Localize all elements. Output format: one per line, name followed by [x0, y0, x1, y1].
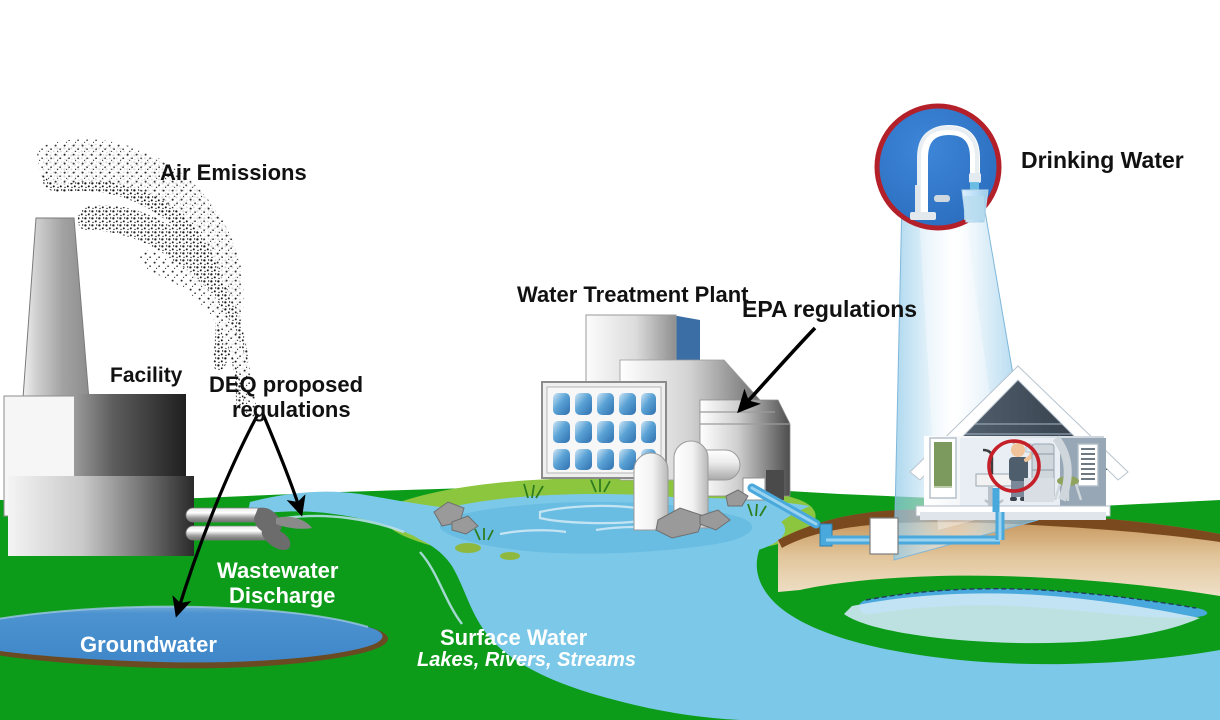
label-facility: Facility [110, 364, 182, 388]
label-deq-regulations: regulations [232, 398, 351, 423]
faucet-and-glass-icon [877, 106, 999, 228]
diagram-canvas: Air Emissions Facility DEQ proposed regu… [0, 0, 1220, 720]
water-cycle-diagram-svg [0, 0, 1220, 720]
label-groundwater: Groundwater [80, 633, 217, 658]
label-surface-water: Surface Water [440, 626, 587, 651]
epa-arrow-to-plant [740, 328, 815, 410]
label-deq-proposed: DEQ proposed [209, 373, 363, 398]
label-wastewater: Wastewater [217, 559, 338, 584]
label-wastewater-discharge: Discharge [229, 584, 335, 609]
label-water-treatment-plant: Water Treatment Plant [517, 283, 748, 308]
label-epa-regulations: EPA regulations [742, 297, 917, 323]
water-service-meter-box [870, 518, 898, 554]
label-surface-water-subtitle: Lakes, Rivers, Streams [417, 649, 636, 671]
label-air-emissions: Air Emissions [160, 161, 307, 186]
label-drinking-water: Drinking Water [1021, 148, 1184, 174]
